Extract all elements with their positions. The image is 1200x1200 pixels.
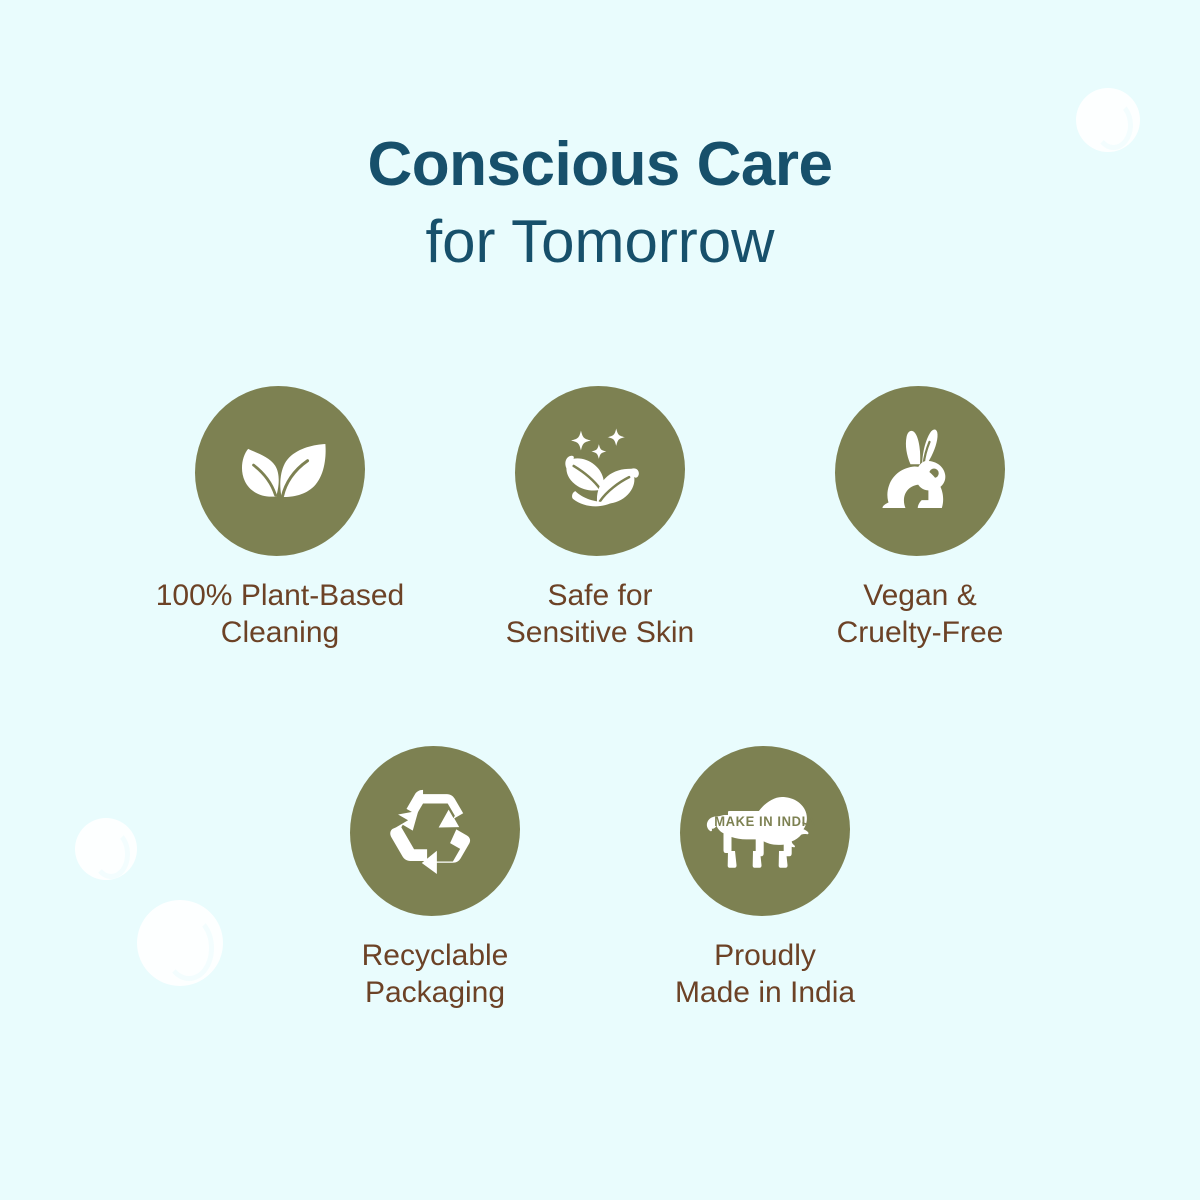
leaf-icon bbox=[226, 417, 334, 525]
badge-disc bbox=[515, 386, 685, 556]
conscious-care-poster: Conscious Care for Tomorrow bbox=[0, 0, 1200, 1200]
badge-disc bbox=[195, 386, 365, 556]
make-in-india-lion-icon: MAKE IN INDIA bbox=[700, 785, 830, 877]
rabbit-icon bbox=[864, 415, 976, 527]
badge-caption: Vegan & Cruelty-Free bbox=[837, 578, 1004, 651]
badge-recyclable-packaging: Recyclable Packaging bbox=[270, 746, 600, 1011]
badge-made-in-india: MAKE IN INDIA Proudly Made in India bbox=[600, 746, 930, 1011]
badge-plant-based: 100% Plant-Based Cleaning bbox=[120, 386, 440, 651]
badge-disc bbox=[835, 386, 1005, 556]
badge-caption: Proudly Made in India bbox=[675, 938, 855, 1011]
badge-row-top: 100% Plant-Based Cleaning bbox=[0, 386, 1200, 651]
make-in-india-wordmark: MAKE IN INDIA bbox=[714, 814, 816, 829]
badge-disc bbox=[350, 746, 520, 916]
feather-sparkle-icon bbox=[544, 415, 656, 527]
badge-vegan-cruelty-free: Vegan & Cruelty-Free bbox=[760, 386, 1080, 651]
page-title-line2: for Tomorrow bbox=[0, 212, 1200, 272]
page-title-line1: Conscious Care bbox=[0, 134, 1200, 196]
page-title: Conscious Care for Tomorrow bbox=[0, 134, 1200, 272]
recycle-icon bbox=[383, 779, 487, 883]
badge-caption: Recyclable Packaging bbox=[362, 938, 509, 1011]
badge-sensitive-skin: Safe for Sensitive Skin bbox=[440, 386, 760, 651]
badge-disc: MAKE IN INDIA bbox=[680, 746, 850, 916]
badge-caption: 100% Plant-Based Cleaning bbox=[156, 578, 405, 651]
badge-caption: Safe for Sensitive Skin bbox=[506, 578, 694, 651]
badge-row-bottom: Recyclable Packaging bbox=[0, 746, 1200, 1011]
